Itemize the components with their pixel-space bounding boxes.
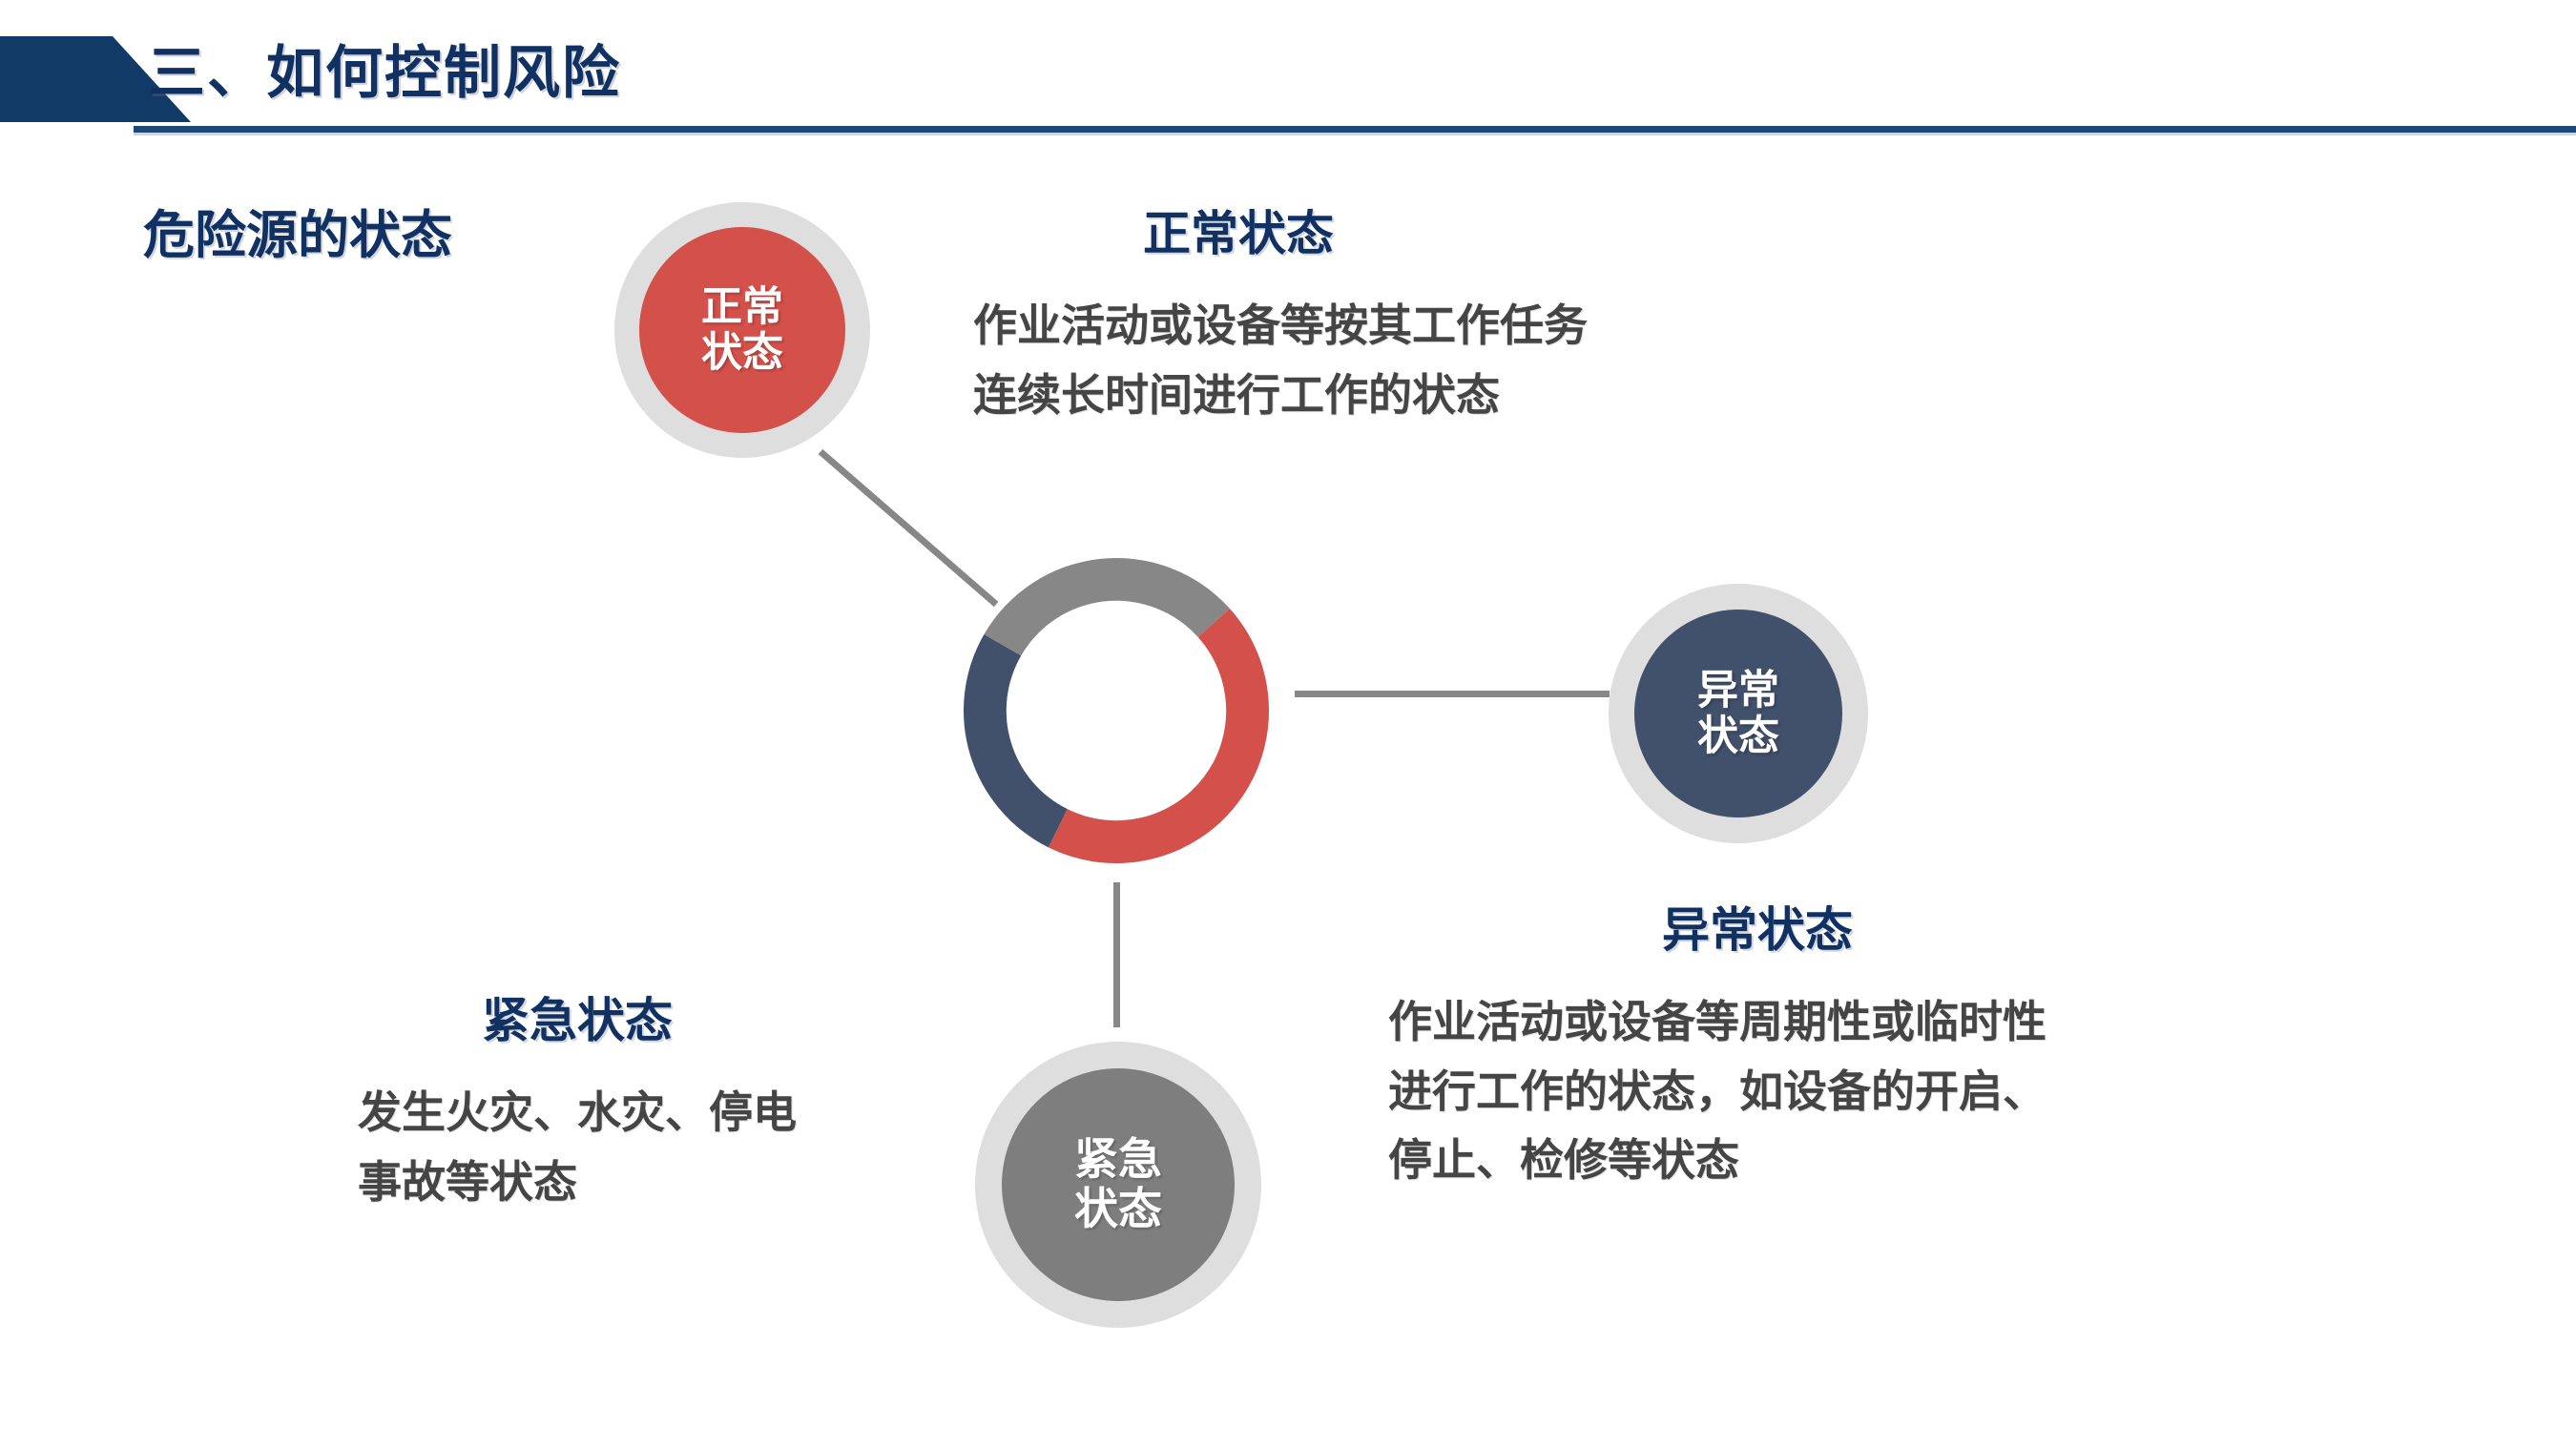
- block-body-normal: 作业活动或设备等按其工作任务 连续长时间进行工作的状态: [973, 291, 1588, 429]
- donut-segment-emergency: [984, 558, 1229, 655]
- donut-segment-abnormal: [964, 634, 1068, 847]
- node-label-emergency: 紧急 状态: [1074, 1135, 1162, 1233]
- node-circle-normal[interactable]: 正常 状态: [639, 227, 845, 433]
- header-divider: [134, 126, 2576, 133]
- block-heading-abnormal: 异常状态: [1662, 892, 1853, 961]
- block-body-emergency: 发生火灾、水灾、停电 事故等状态: [358, 1078, 797, 1216]
- block-body-abnormal: 作业活动或设备等周期性或临时性 进行工作的状态，如设备的开启、 停止、检修等状态: [1388, 987, 2046, 1195]
- section-label: 危险源的状态: [143, 193, 452, 268]
- slide-root: 三、如何控制风险 危险源的状态 正常 状态 异常 状态 紧急 状态 正常状态 作…: [0, 0, 2576, 1448]
- state-donut-chart: [964, 558, 1269, 863]
- page-title: 三、如何控制风险: [148, 27, 621, 110]
- node-label-abnormal: 异常 状态: [1697, 668, 1779, 759]
- block-heading-emergency: 紧急状态: [482, 983, 673, 1051]
- donut-segment-normal: [1049, 609, 1269, 863]
- connector-line-abnormal: [1295, 691, 1610, 697]
- connector-line-emergency: [1113, 882, 1120, 1027]
- node-label-normal: 正常 状态: [701, 284, 783, 376]
- node-circle-abnormal[interactable]: 异常 状态: [1634, 610, 1842, 817]
- block-heading-normal: 正常状态: [1143, 196, 1334, 264]
- node-circle-emergency[interactable]: 紧急 状态: [1002, 1068, 1235, 1301]
